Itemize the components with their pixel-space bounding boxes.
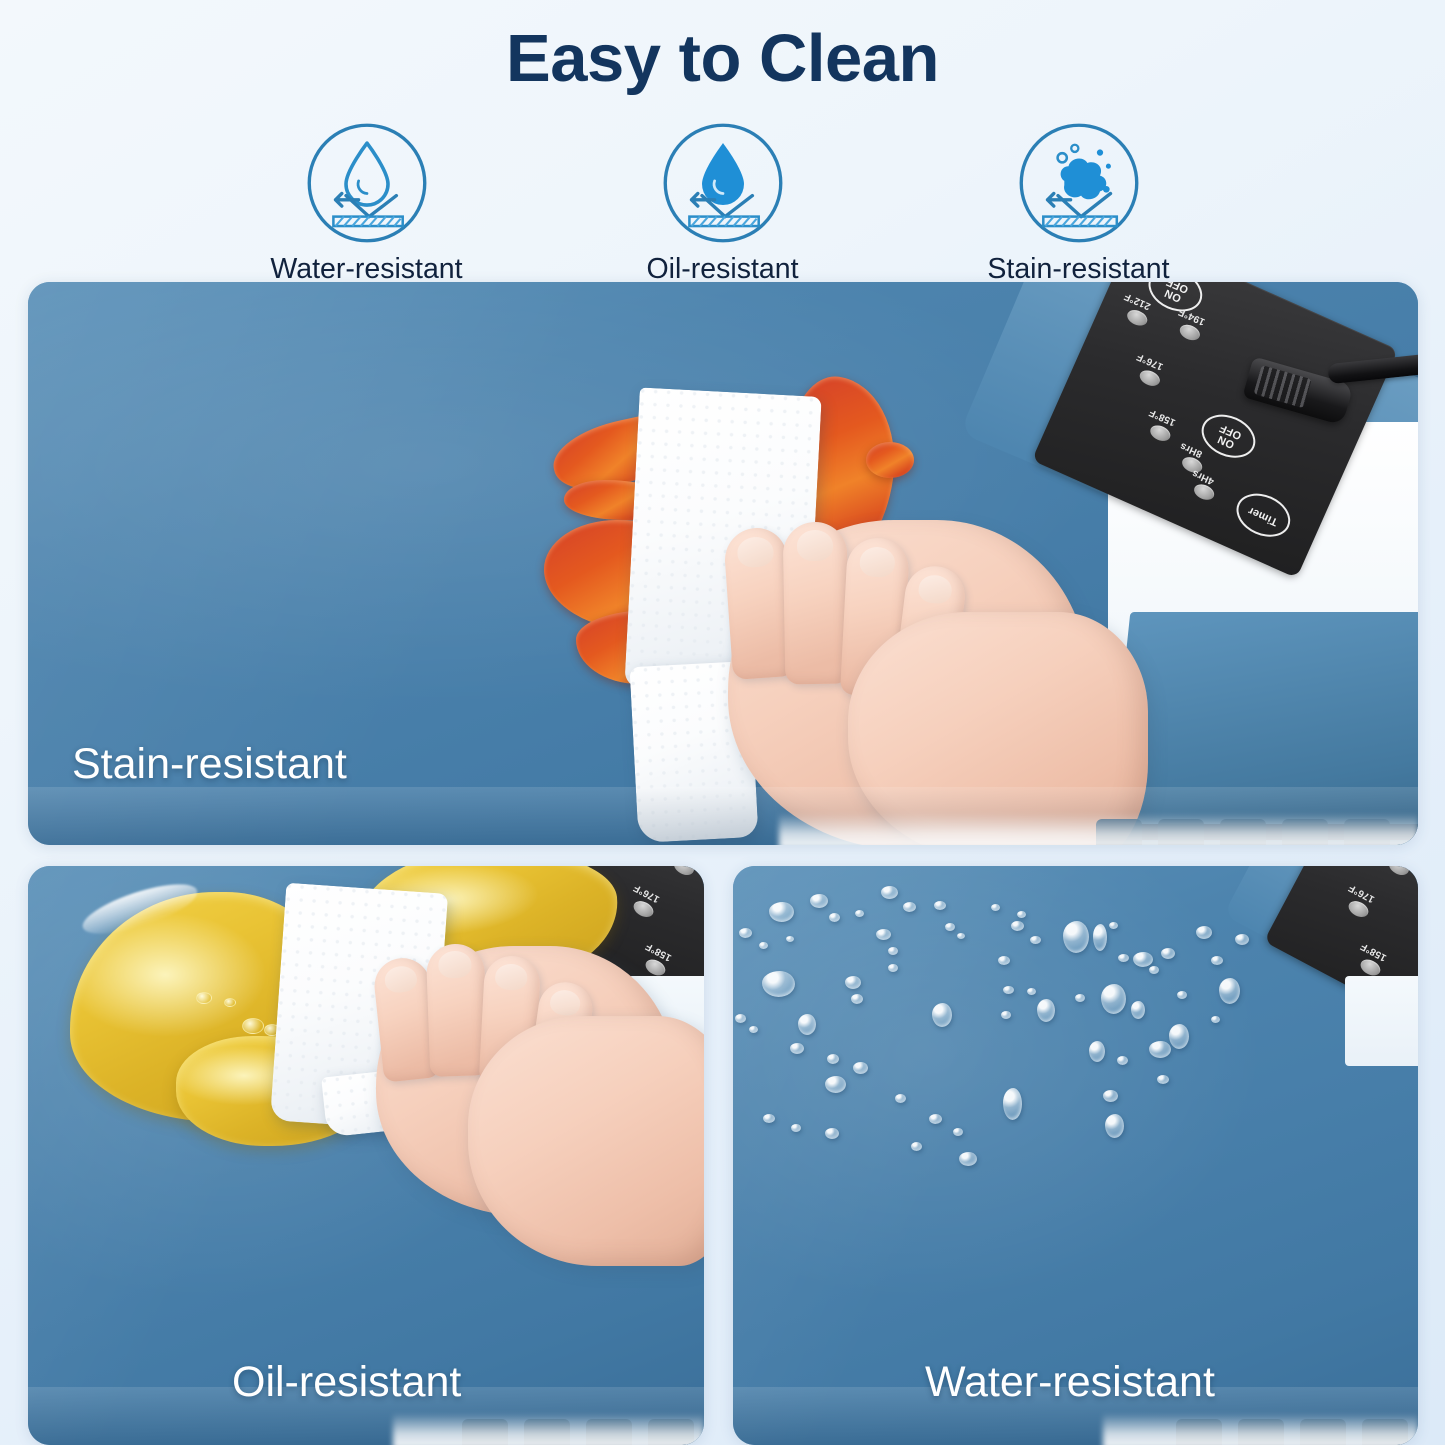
water-droplet bbox=[1219, 978, 1240, 1004]
water-droplet bbox=[1117, 1056, 1128, 1065]
water-droplet bbox=[1030, 936, 1041, 944]
water-droplet bbox=[1103, 1090, 1118, 1102]
water-droplet bbox=[929, 1114, 942, 1124]
panel-water-resistant[interactable]: ONOFF 212°F 194°F 176°F 158°F bbox=[733, 866, 1418, 1445]
timer-button-label: ONOFF bbox=[1213, 421, 1243, 451]
water-droplet bbox=[829, 913, 840, 922]
water-droplet bbox=[825, 1128, 839, 1139]
middle-finger bbox=[426, 943, 489, 1077]
water-droplet bbox=[1149, 1041, 1171, 1058]
timer-mode-button[interactable]: Timer bbox=[1230, 486, 1297, 545]
water-droplet bbox=[825, 1076, 846, 1093]
water-droplet bbox=[1109, 922, 1118, 929]
water-droplet bbox=[810, 894, 828, 908]
water-droplet bbox=[851, 994, 863, 1004]
water-droplet bbox=[1011, 921, 1024, 931]
water-droplet bbox=[855, 910, 864, 917]
led-label: 212°F bbox=[1123, 290, 1153, 311]
led-indicator bbox=[1386, 866, 1411, 878]
water-droplet bbox=[1161, 948, 1175, 959]
fingernail bbox=[859, 546, 896, 578]
water-droplet-outline-surface-icon bbox=[262, 119, 472, 247]
feature-item-water-resistant: Water-resistant bbox=[262, 119, 472, 286]
fingernail bbox=[549, 988, 582, 1017]
water-droplet bbox=[903, 902, 916, 912]
water-droplet bbox=[845, 976, 861, 989]
feature-item-oil-resistant: Oil-resistant bbox=[618, 119, 828, 286]
water-droplet bbox=[1001, 1011, 1011, 1019]
water-droplet bbox=[1118, 954, 1129, 962]
water-droplet bbox=[1003, 1088, 1022, 1120]
water-droplet bbox=[911, 1142, 922, 1151]
fingernail bbox=[736, 536, 774, 568]
water-droplet bbox=[953, 1128, 963, 1136]
mat-edge-blur bbox=[393, 1413, 704, 1445]
water-droplet bbox=[934, 901, 946, 910]
water-droplet bbox=[895, 1094, 906, 1103]
water-droplet bbox=[1131, 1001, 1145, 1019]
oil-droplet-filled-surface-icon bbox=[618, 119, 828, 247]
panel-caption-oil: Oil-resistant bbox=[232, 1358, 461, 1407]
water-droplet bbox=[1196, 926, 1212, 939]
water-droplet bbox=[1075, 994, 1085, 1002]
water-droplet bbox=[1017, 911, 1026, 918]
water-droplet bbox=[769, 902, 794, 922]
led-indicator bbox=[1192, 481, 1217, 502]
water-droplet bbox=[827, 1054, 839, 1064]
page-title: Easy to Clean bbox=[0, 24, 1445, 94]
oil-bubble bbox=[196, 992, 212, 1004]
water-droplet bbox=[1037, 999, 1055, 1022]
fingernail bbox=[917, 573, 953, 605]
water-droplet bbox=[739, 928, 752, 938]
fingernail bbox=[495, 963, 528, 991]
water-droplet bbox=[1089, 1041, 1105, 1062]
water-droplet bbox=[1235, 934, 1249, 945]
water-droplet bbox=[1169, 1024, 1189, 1049]
water-droplet bbox=[888, 964, 898, 972]
power-button-label: ONOFF bbox=[1160, 282, 1190, 305]
fingernail bbox=[438, 950, 472, 978]
water-droplet bbox=[791, 1124, 801, 1132]
water-droplet bbox=[790, 1043, 804, 1054]
water-droplet bbox=[762, 971, 795, 997]
water-droplet bbox=[1101, 984, 1126, 1014]
background-white-cutout bbox=[1345, 976, 1418, 1066]
water-droplet bbox=[1003, 986, 1014, 994]
water-droplet bbox=[1133, 952, 1153, 967]
water-droplet bbox=[798, 1014, 816, 1035]
panel-caption-water: Water-resistant bbox=[925, 1358, 1215, 1407]
water-droplet bbox=[1093, 924, 1107, 951]
water-droplet bbox=[998, 956, 1010, 965]
feature-row: Water-resistant Oil-resistant bbox=[0, 119, 1445, 286]
stain-splash-surface-icon bbox=[974, 119, 1184, 247]
led-label: 158°F bbox=[1147, 406, 1177, 427]
timer-button[interactable]: ONOFF bbox=[1195, 407, 1262, 466]
water-droplet bbox=[735, 1014, 746, 1023]
water-droplet bbox=[749, 1026, 758, 1033]
water-droplet bbox=[759, 942, 768, 949]
water-droplet bbox=[786, 936, 794, 942]
water-droplet bbox=[853, 1062, 868, 1074]
water-droplet bbox=[1027, 988, 1036, 995]
water-droplet bbox=[1211, 1016, 1220, 1023]
oil-bubble bbox=[242, 1018, 264, 1034]
water-droplet bbox=[1149, 966, 1159, 974]
panel-oil-resistant[interactable]: ONOFF 212°F 194°F 176°F 158°F bbox=[28, 866, 704, 1445]
mat-edge-blur bbox=[1103, 1413, 1418, 1445]
fingernail bbox=[384, 965, 419, 994]
middle-finger bbox=[783, 521, 850, 684]
led-indicator bbox=[671, 866, 696, 878]
water-droplet bbox=[1063, 921, 1089, 953]
panel-caption-stain: Stain-resistant bbox=[72, 740, 347, 789]
water-droplet bbox=[957, 933, 965, 939]
water-droplet bbox=[888, 947, 898, 955]
panel-stain-resistant[interactable]: ONOFF 212°F 194°F 176°F 158°F ONOFF 8Hrs… bbox=[28, 282, 1418, 845]
led-label: 176°F bbox=[1135, 351, 1165, 372]
water-droplet bbox=[991, 904, 1000, 911]
water-droplet bbox=[1211, 956, 1223, 965]
water-droplet bbox=[876, 929, 891, 940]
water-droplet bbox=[1105, 1114, 1124, 1138]
water-droplet bbox=[945, 923, 955, 931]
water-droplet bbox=[1177, 991, 1187, 999]
water-droplet bbox=[932, 1003, 952, 1027]
feature-item-stain-resistant: Stain-resistant bbox=[974, 119, 1184, 286]
ketchup-speck bbox=[866, 442, 914, 478]
water-droplet bbox=[959, 1152, 977, 1166]
water-droplet bbox=[763, 1114, 775, 1123]
oil-bubble bbox=[224, 998, 236, 1007]
water-droplet bbox=[1157, 1075, 1169, 1084]
timer-mode-label: Timer bbox=[1247, 504, 1280, 527]
header: Easy to Clean bbox=[0, 0, 1445, 94]
mat-edge-blur bbox=[779, 813, 1418, 845]
water-droplet bbox=[881, 886, 898, 899]
fingernail bbox=[797, 530, 834, 562]
